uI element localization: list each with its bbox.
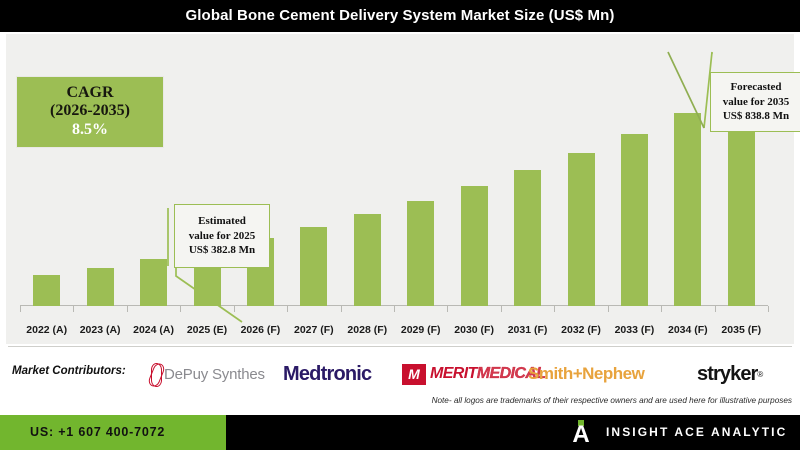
x-label-2033: 2033 (F) [608,324,661,336]
logo-smith-nephew-text: Smith+Nephew [528,364,644,384]
x-tick [661,306,662,312]
x-tick [73,306,74,312]
logo-stryker-text: stryker [697,363,757,386]
logo-stryker: stryker ® [697,360,763,388]
x-label-2025: 2025 (E) [180,324,233,336]
forecasted-2035-value: US$ 838.8 Mn [723,109,789,124]
x-tick [394,306,395,312]
bar-2031 [514,170,541,306]
x-tick [554,306,555,312]
divider [8,346,792,347]
x-label-2034: 2034 (F) [661,324,714,336]
estimated-2025-callout: Estimated value for 2025 US$ 382.8 Mn [174,204,270,268]
x-label-2030: 2030 (F) [447,324,500,336]
x-label-2029: 2029 (F) [394,324,447,336]
logo-merit-text-primary: MERIT [430,365,477,383]
bar-2023 [87,268,114,306]
helix-icon [150,362,161,386]
x-label-2023: 2023 (A) [73,324,126,336]
logo-letter-a: A [568,424,594,446]
market-contributors-label: Market Contributors: [12,365,126,377]
cagr-label: CAGR [66,84,113,102]
footer-bar: US: +1 607 400-7072 A INSIGHT ACE ANALYT… [0,415,800,450]
x-tick [715,306,716,312]
logo-depuy-synthes-text: DePuy Synthes [164,366,265,383]
trademark-note: Note- all logos are trademarks of their … [432,396,792,405]
registered-trademark-icon: ® [757,370,763,379]
title-bar: Global Bone Cement Delivery System Marke… [0,0,800,32]
estimated-2025-line1: Estimated [198,214,246,229]
bar-2033 [621,134,648,306]
logo-depuy-synthes: DePuy Synthes [150,360,265,388]
x-tick [20,306,21,312]
cagr-value: 8.5% [72,120,108,140]
cagr-callout-box: CAGR (2026-2035) 8.5% [16,76,164,148]
logo-medtronic: Medtronic [283,360,371,388]
bar-2030 [461,186,488,306]
insight-ace-logo-icon: A [568,420,594,446]
x-tick [501,306,502,312]
x-label-2032: 2032 (F) [554,324,607,336]
x-label-2022: 2022 (A) [20,324,73,336]
bar-2034 [674,113,701,306]
logo-smith-nephew: Smith+Nephew [528,360,644,388]
footer-brand-name: INSIGHT ACE ANALYTIC [606,415,787,450]
x-tick [447,306,448,312]
x-label-2024: 2024 (A) [127,324,180,336]
x-label-2028: 2028 (F) [341,324,394,336]
estimated-2025-line2: value for 2025 [189,229,255,244]
bar-2022 [33,275,60,306]
bar-2029 [407,201,434,306]
market-contributors-strip: Market Contributors: DePuy Synthes Medtr… [0,346,800,415]
logo-merit-medical: M MERIT MEDICAL [402,360,545,388]
logo-medtronic-text: Medtronic [283,363,371,386]
x-label-2027: 2027 (F) [287,324,340,336]
bar-2032 [568,153,595,306]
forecasted-2035-line1: Forecasted [730,80,781,95]
forecasted-2035-line2: value for 2035 [723,95,789,110]
estimated-2025-value: US$ 382.8 Mn [189,243,255,258]
x-tick [608,306,609,312]
chart-panel: 2022 (A)2023 (A)2024 (A)2025 (E)2026 (F)… [6,34,794,344]
cagr-period: (2026-2035) [50,102,130,120]
x-label-2035: 2035 (F) [715,324,768,336]
page-title: Global Bone Cement Delivery System Marke… [0,0,800,32]
x-tick [341,306,342,312]
x-label-2026: 2026 (F) [234,324,287,336]
infographic-page: Global Bone Cement Delivery System Marke… [0,0,800,450]
footer-phone-number[interactable]: US: +1 607 400-7072 [30,415,165,450]
x-tick [768,306,769,312]
forecasted-2035-callout: Forecasted value for 2035 US$ 838.8 Mn [710,72,800,132]
x-tick [127,306,128,312]
merit-square-icon: M [402,364,426,385]
bar-2028 [354,214,381,306]
x-label-2031: 2031 (F) [501,324,554,336]
